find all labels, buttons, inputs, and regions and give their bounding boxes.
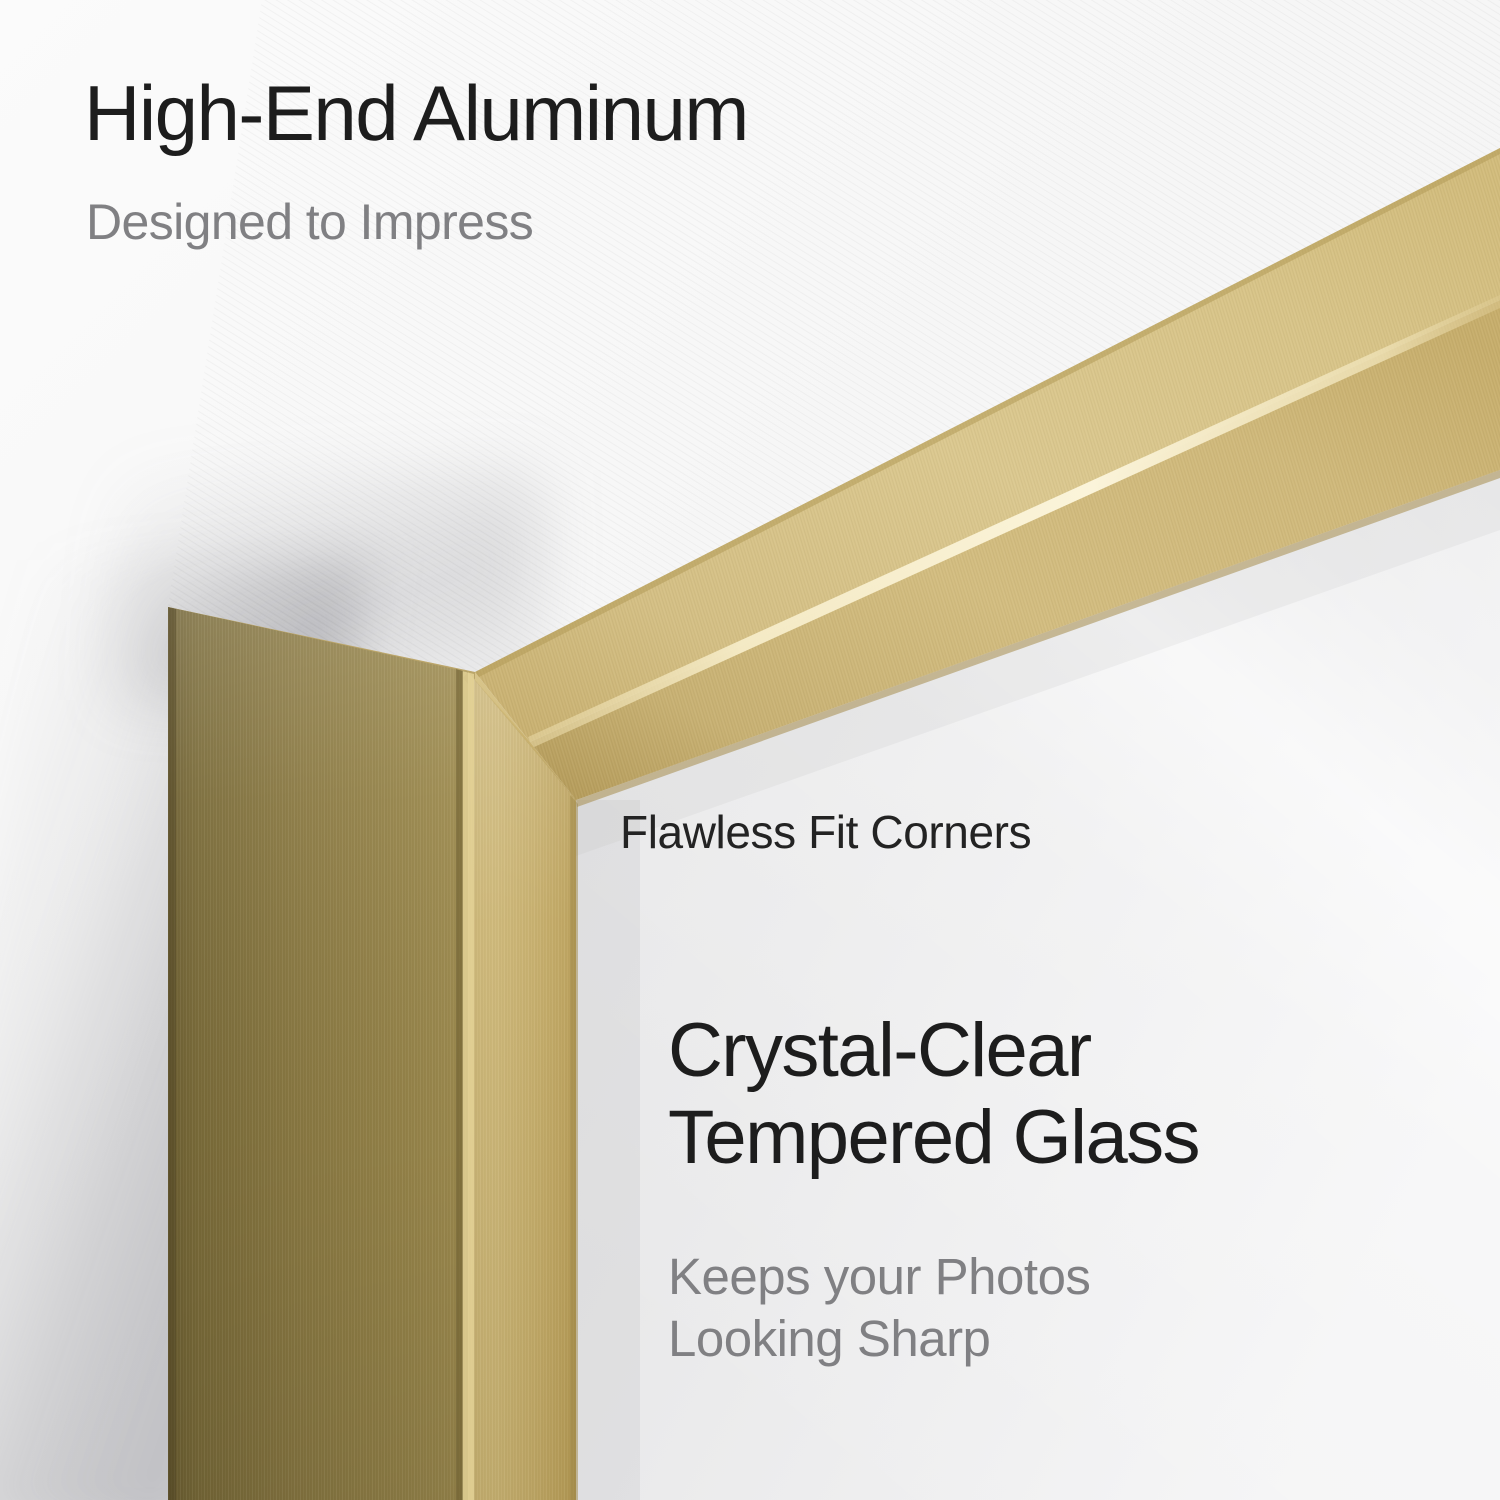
product-image-canvas: High-End Aluminum Designed to Impress Fl… xyxy=(0,0,1500,1500)
glass-sub-line-2: Looking Sharp xyxy=(668,1308,1090,1370)
callout-flawless-fit-corners: Flawless Fit Corners xyxy=(620,808,1031,856)
glass-sub-line-1: Keeps your Photos xyxy=(668,1246,1090,1308)
glass-feature-title: Crystal-Clear Tempered Glass xyxy=(668,1008,1199,1181)
page-title: High-End Aluminum xyxy=(84,74,748,154)
page-subtitle: Designed to Impress xyxy=(86,196,533,249)
glass-title-line-1: Crystal-Clear xyxy=(668,1008,1199,1095)
glass-feature-subtitle: Keeps your Photos Looking Sharp xyxy=(668,1246,1090,1370)
glass-title-line-2: Tempered Glass xyxy=(668,1095,1199,1182)
